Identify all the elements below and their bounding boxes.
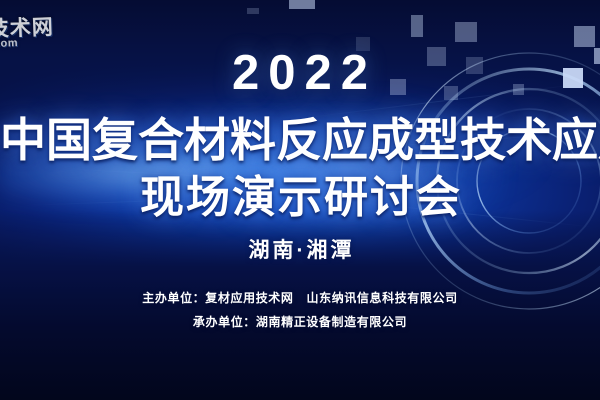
event-year: 2022: [0, 49, 600, 98]
organizer-line: 主办单位：复材应用技术网山东纳讯信息科技有限公司: [0, 289, 600, 306]
poster-content: 2022 中国复合材料反应成型技术应用装备 现场演示研讨会 湖南·湘潭 主办单位…: [0, 0, 600, 400]
event-title-line-1: 中国复合材料反应成型技术应用装备: [0, 116, 600, 164]
event-location: 湖南·湘潭: [0, 234, 600, 264]
organizer-name-2: 山东纳讯信息科技有限公司: [307, 291, 458, 305]
undertaker-label: 承办单位：: [193, 315, 256, 329]
undertaker-name-1: 湖南精正设备制造有限公司: [256, 315, 407, 329]
event-title-line-2: 现场演示研讨会: [0, 175, 600, 221]
event-poster: 技术网 .com 2022 中国复合材料反应成型技术应用装备 现场演示研讨会 湖…: [0, 0, 600, 400]
organizer-label: 主办单位：: [142, 291, 205, 305]
undertaker-line: 承办单位：湖南精正设备制造有限公司: [0, 313, 600, 330]
organizer-name-1: 复材应用技术网: [205, 291, 293, 305]
